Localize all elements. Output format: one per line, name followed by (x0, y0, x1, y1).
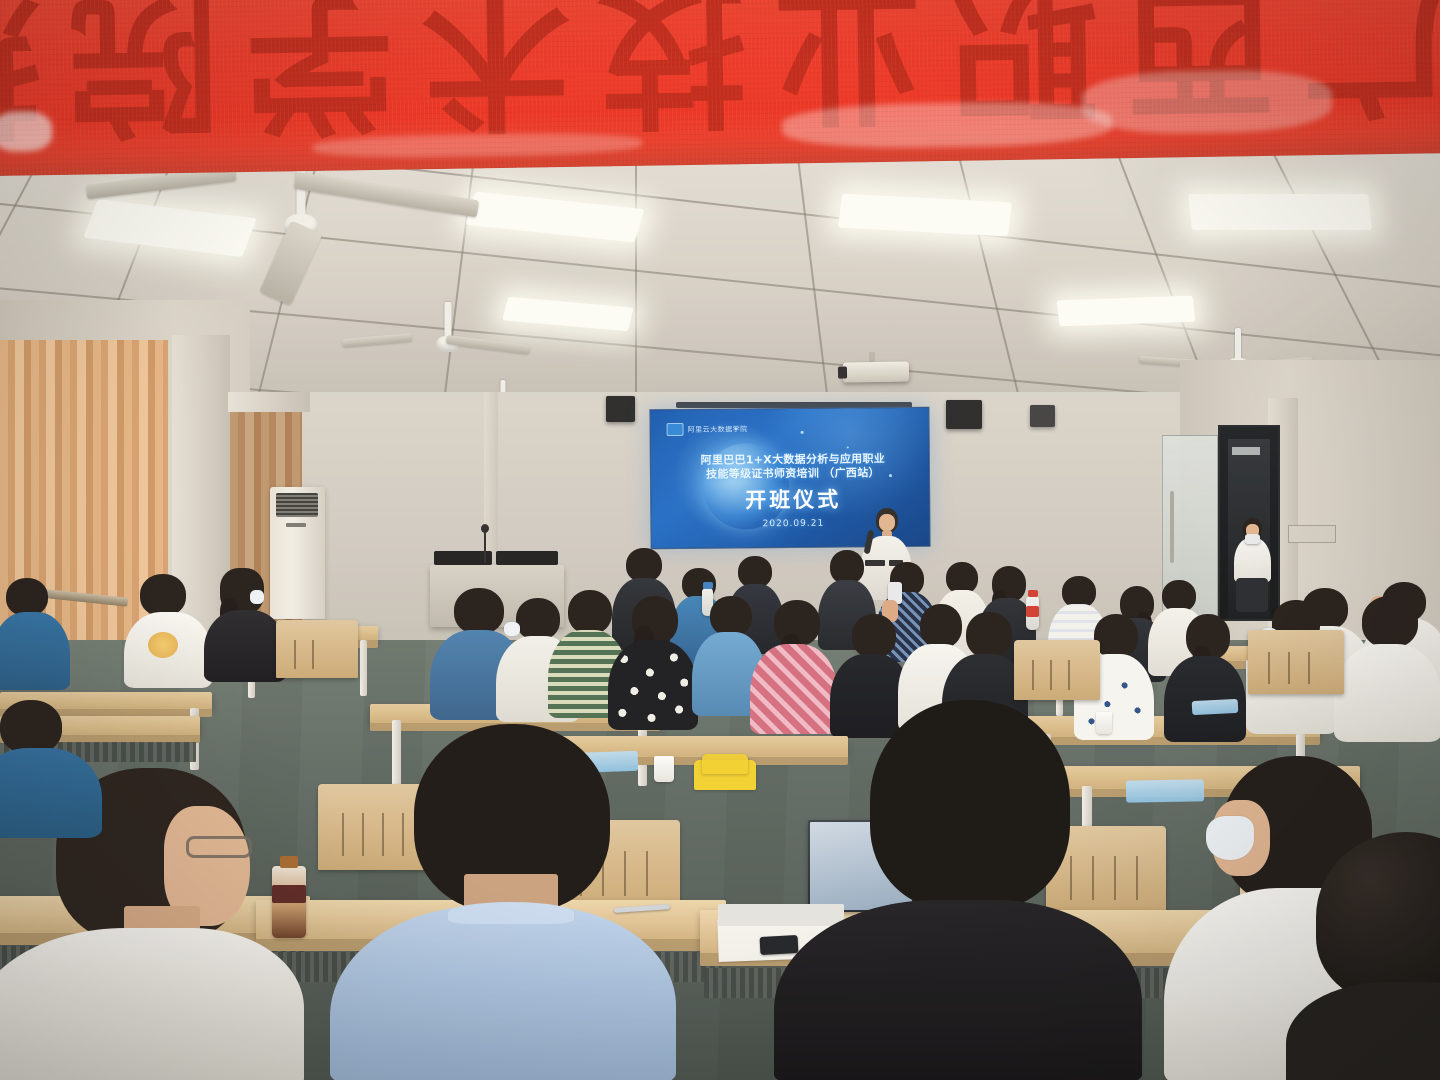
banner-text: 广西职业技术学院热烈欢迎 (0, 0, 1440, 154)
attendee (1166, 614, 1244, 742)
photographer-phone[interactable] (1245, 534, 1260, 544)
alibaba-cloud-mark (667, 423, 684, 436)
desk-leg (360, 640, 367, 696)
ceiling-light-panel (1188, 194, 1372, 230)
face-mask-pack[interactable] (1192, 699, 1239, 715)
yellow-bag[interactable] (702, 754, 748, 774)
chair[interactable] (1014, 640, 1100, 700)
classroom-photo: 广西职业技术学院热烈欢迎 阿里云大数据学院 阿里巴巴1+X大数据分析与应用职业 … (0, 0, 1440, 1080)
torso (330, 906, 676, 1080)
attendee (612, 596, 694, 728)
ceiling-fan (196, 158, 406, 268)
red-welcome-banner: 广西职业技术学院热烈欢迎 (0, 0, 1440, 176)
torso (0, 928, 304, 1080)
attendee (1340, 596, 1436, 742)
photographer-body (1234, 538, 1271, 582)
foreground-attendee-black-top (800, 700, 1130, 1080)
banner-scuff (0, 111, 52, 152)
wall-speaker-right (946, 400, 982, 429)
ceiling-projector (843, 361, 909, 382)
chair[interactable] (1248, 630, 1344, 694)
lectern-microphone (484, 529, 486, 563)
photographer-by-door (1230, 518, 1274, 610)
presenter-face (879, 514, 895, 531)
torso (774, 900, 1142, 1080)
ac-grille-icon (276, 493, 318, 517)
wall-speaker-far-right (1030, 405, 1055, 427)
drink-bottle[interactable] (1026, 596, 1039, 630)
collar (448, 902, 574, 924)
slide-line-2: 技能等级证书师资培训 （广西站） (671, 466, 915, 482)
slide-logo-text: 阿里云大数据学院 (688, 424, 748, 435)
attendee (0, 578, 62, 688)
head (1316, 832, 1440, 1002)
polka-dot-pattern (612, 644, 698, 728)
banner-scuff (312, 132, 642, 159)
attendee (130, 574, 202, 684)
smartphone-on-desk[interactable] (760, 935, 799, 955)
door-transom (1232, 447, 1260, 455)
head (870, 700, 1070, 910)
shirt-graphic (148, 632, 178, 658)
curtain-valance (228, 392, 310, 412)
wall-notice-panel (1288, 525, 1336, 543)
banner-scuff (1081, 69, 1332, 135)
ceiling-fan (388, 302, 508, 364)
banner-scuff (782, 100, 1113, 149)
face-mask (1206, 816, 1254, 860)
ceiling-light-panel (1057, 296, 1196, 327)
eyeglasses (186, 836, 252, 858)
wall-speaker-left (606, 396, 635, 422)
chair[interactable] (276, 620, 358, 678)
ac-display (286, 523, 306, 527)
attendee (0, 700, 100, 830)
attendee (208, 568, 280, 678)
door-handle[interactable] (1170, 491, 1174, 563)
slide-logo: 阿里云大数据学院 (667, 422, 748, 436)
foreground-attendee-curly-hair (1306, 832, 1440, 1080)
foreground-attendee-blue-shirt (352, 724, 672, 1080)
torso (1286, 982, 1440, 1080)
lectern-monitor (496, 551, 558, 565)
